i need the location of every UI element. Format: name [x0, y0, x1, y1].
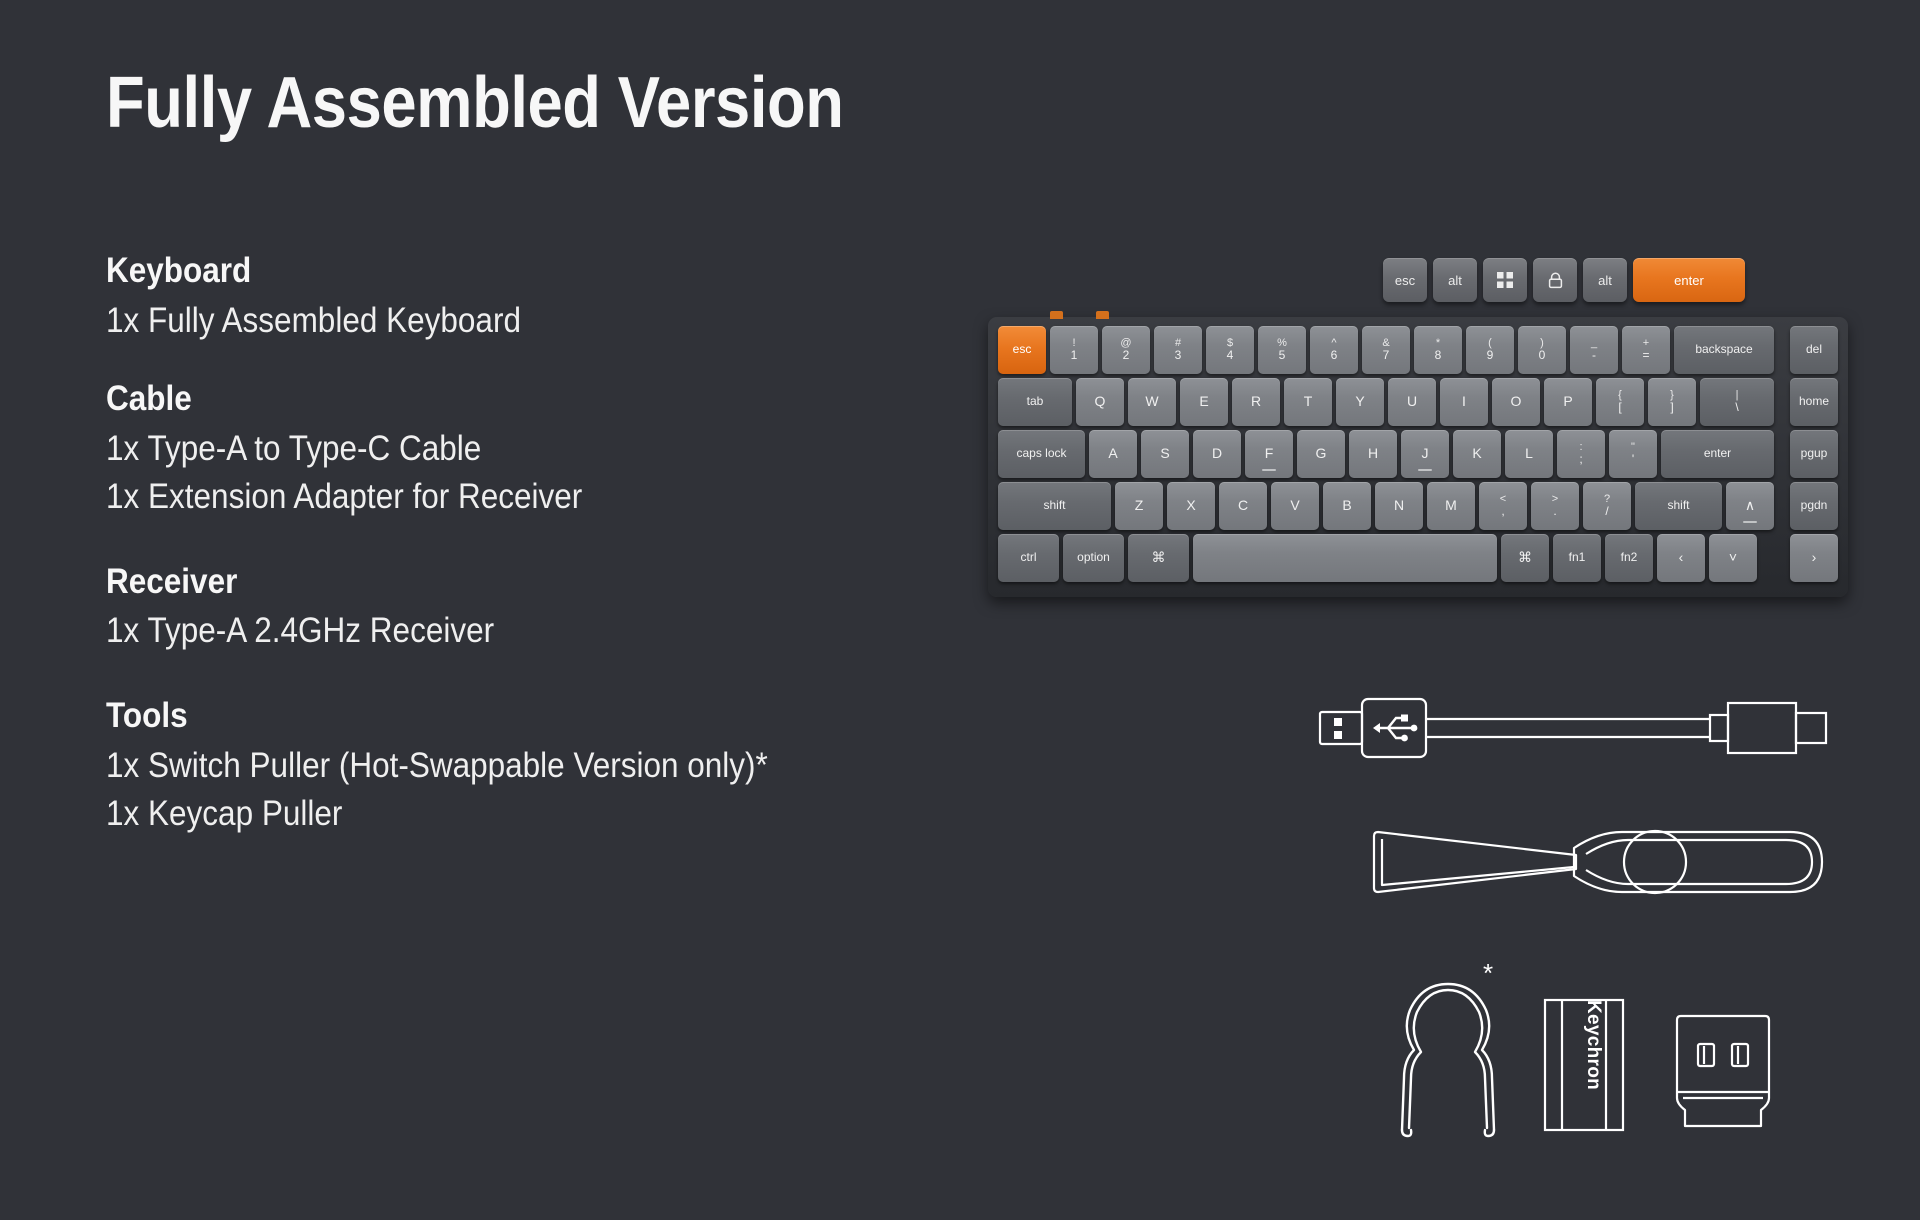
key-legend: X [1186, 498, 1195, 514]
key-legend-top: & [1382, 337, 1389, 349]
key-pgup: pgup [1790, 430, 1838, 478]
extra-keycap-label: alt [1598, 273, 1612, 288]
key-blank: |\ [1700, 378, 1774, 426]
key-legend: tab [1027, 395, 1044, 408]
key-legend: R [1251, 394, 1261, 410]
extra-keycap-label: alt [1448, 273, 1462, 288]
extra-keycap-label: enter [1674, 273, 1704, 288]
key-9: (9 [1466, 326, 1514, 374]
key-e: E [1180, 378, 1228, 426]
windows-icon [1497, 272, 1513, 288]
key-n: N [1375, 482, 1423, 530]
key-v: V [1271, 482, 1319, 530]
key-fn2: fn2 [1605, 534, 1653, 582]
page-title: Fully Assembled Version [106, 62, 844, 144]
key-legend: , [1501, 505, 1504, 518]
key-home: home [1790, 378, 1838, 426]
footnote-asterisk: * [1483, 960, 1493, 986]
key-legend: esc [1013, 343, 1032, 356]
key-q: Q [1076, 378, 1124, 426]
extra-keycap-enter: enter [1633, 258, 1745, 302]
section-heading: Tools [106, 693, 1051, 740]
key-legend: home [1799, 395, 1829, 408]
key-legend: Y [1355, 394, 1364, 410]
key-blank: >. [1531, 482, 1579, 530]
extra-keycap-label: esc [1395, 273, 1415, 288]
key-t: T [1284, 378, 1332, 426]
key-blank: ⌘ [1128, 534, 1189, 582]
keyboard-number-row: esc!1@2#3$4%5^6&7*8(9)0_-+=backspacedel [998, 326, 1838, 374]
extra-keycap-lock [1533, 258, 1577, 302]
section-line: 1x Switch Puller (Hot-Swappable Version … [106, 742, 1051, 790]
key-fn1: fn1 [1553, 534, 1601, 582]
key-legend-top: ( [1488, 337, 1492, 349]
key-blank: ˅ [1709, 534, 1757, 582]
key-shift: shift [998, 482, 1111, 530]
key-blank: <, [1479, 482, 1527, 530]
key-8: *8 [1414, 326, 1462, 374]
keyboard-tab-row: tabQWERTYUIOP{[}]|\home [998, 378, 1838, 426]
key-legend: B [1342, 498, 1351, 514]
key-esc: esc [998, 326, 1046, 374]
extra-keycap-esc: esc [1383, 258, 1427, 302]
key-legend: caps lock [1016, 447, 1066, 460]
key-o: O [1492, 378, 1540, 426]
key-legend-top: ? [1604, 493, 1610, 505]
key-legend: P [1563, 394, 1572, 410]
key-legend: H [1368, 446, 1378, 462]
key-4: $4 [1206, 326, 1254, 374]
key-legend: ‹ [1679, 550, 1684, 566]
key-legend: ⌘ [1152, 550, 1166, 566]
key-legend: ] [1670, 401, 1673, 414]
key-legend: pgup [1801, 447, 1828, 460]
key-z: Z [1115, 482, 1163, 530]
key-p: P [1544, 378, 1592, 426]
key-legend-top: * [1436, 337, 1440, 349]
key-blank: _- [1570, 326, 1618, 374]
key-shift: shift [1635, 482, 1722, 530]
key-legend: K [1472, 446, 1481, 462]
key-blank: {[ [1596, 378, 1644, 426]
keyboard-accent-tab [1050, 311, 1063, 319]
key-pgdn: pgdn [1790, 482, 1838, 530]
key-legend: E [1199, 394, 1208, 410]
key-caps-lock: caps lock [998, 430, 1085, 478]
key-legend: . [1553, 505, 1556, 518]
key-legend-top: { [1618, 389, 1622, 401]
key-legend: ; [1579, 453, 1582, 466]
key-legend-top: : [1579, 441, 1582, 453]
switch-puller-brand-label: Keychron [1582, 1000, 1604, 1090]
key-legend: Z [1135, 498, 1144, 514]
key-k: K [1453, 430, 1501, 478]
key-legend-top: + [1643, 337, 1649, 349]
key-legend-top: | [1736, 389, 1739, 401]
section-line: 1x Keycap Puller [106, 790, 1051, 838]
key-u: U [1388, 378, 1436, 426]
key-legend-top: % [1277, 337, 1287, 349]
key-ctrl: ctrl [998, 534, 1059, 582]
key-enter: enter [1661, 430, 1774, 478]
key-3: #3 [1154, 326, 1202, 374]
key-f: F [1245, 430, 1293, 478]
key-legend-top: < [1500, 493, 1506, 505]
key-1: !1 [1050, 326, 1098, 374]
key-legend: ˅ [1729, 550, 1737, 566]
key-legend: \ [1735, 401, 1738, 414]
key-legend: G [1316, 446, 1327, 462]
key-2: @2 [1102, 326, 1150, 374]
key-legend: I [1462, 394, 1466, 410]
lock-icon [1548, 272, 1563, 289]
key-legend-top: @ [1120, 337, 1131, 349]
key-blank: ‹ [1657, 534, 1705, 582]
key-tab: tab [998, 378, 1072, 426]
key-legend: C [1238, 498, 1248, 514]
key-y: Y [1336, 378, 1384, 426]
key-a: A [1089, 430, 1137, 478]
key-legend: 1 [1071, 349, 1078, 362]
key-b: B [1323, 482, 1371, 530]
key-legend: › [1812, 550, 1817, 566]
key-legend: N [1394, 498, 1404, 514]
key-legend: F [1265, 446, 1274, 462]
section-line: 1x Extension Adapter for Receiver [106, 473, 1051, 521]
key-legend: V [1290, 498, 1299, 514]
key-legend: 9 [1487, 349, 1494, 362]
key-s: S [1141, 430, 1189, 478]
key-legend: shift [1043, 499, 1065, 512]
key-legend: 7 [1383, 349, 1390, 362]
keyboard-bottom-row: ctrloption⌘⌘fn1fn2‹˅› [998, 534, 1838, 582]
keycap-puller-screwdriver-icon [1370, 812, 1830, 912]
key-legend: backspace [1695, 343, 1752, 356]
key-legend: ' [1632, 453, 1634, 466]
key-legend: fn1 [1569, 551, 1586, 564]
key-legend-top: _ [1591, 337, 1597, 349]
extra-keycap-windows [1483, 258, 1527, 302]
key-legend-top: ) [1540, 337, 1544, 349]
key-legend: U [1407, 394, 1417, 410]
key-legend: ∧ [1745, 498, 1755, 514]
section-line: 1x Type-A to Type-C Cable [106, 425, 1051, 473]
key-legend: shift [1667, 499, 1689, 512]
keyboard-rows: esc!1@2#3$4%5^6&7*8(9)0_-+=backspacedelt… [998, 326, 1838, 582]
key-0: )0 [1518, 326, 1566, 374]
key-del: del [1790, 326, 1838, 374]
key-blank: += [1622, 326, 1670, 374]
key-backspace: backspace [1674, 326, 1774, 374]
key-legend-top: > [1552, 493, 1558, 505]
key-legend: ctrl [1021, 551, 1037, 564]
key-blank: ⌘ [1501, 534, 1549, 582]
key-legend: enter [1704, 447, 1731, 460]
key-legend: del [1806, 343, 1822, 356]
key-legend: = [1642, 349, 1649, 362]
usb-receiver-dongle-icon [1677, 1016, 1769, 1126]
key-legend: L [1525, 446, 1533, 462]
key-blank: :; [1557, 430, 1605, 478]
key-legend-top: ^ [1331, 337, 1336, 349]
key-legend: option [1077, 551, 1110, 564]
key-h: H [1349, 430, 1397, 478]
key-legend: A [1108, 446, 1117, 462]
key-legend: D [1212, 446, 1222, 462]
key-blank: "' [1609, 430, 1657, 478]
key-legend: [ [1618, 401, 1621, 414]
section-heading: Receiver [106, 559, 1051, 606]
key-blank: ?/ [1583, 482, 1631, 530]
key-c: C [1219, 482, 1267, 530]
key-legend: M [1445, 498, 1457, 514]
key-legend: fn2 [1621, 551, 1638, 564]
keyboard-illustration: esc!1@2#3$4%5^6&7*8(9)0_-+=backspacedelt… [988, 317, 1848, 597]
key-legend: S [1160, 446, 1169, 462]
key-legend-top: " [1631, 441, 1635, 453]
key-legend: 8 [1435, 349, 1442, 362]
key-legend-top: $ [1227, 337, 1233, 349]
key-blank [1193, 534, 1497, 582]
extra-keycaps-row: esc alt alt enter [1383, 258, 1745, 302]
key-6: ^6 [1310, 326, 1358, 374]
key-g: G [1297, 430, 1345, 478]
key-r: R [1232, 378, 1280, 426]
section-heading: Keyboard [106, 248, 1051, 295]
section-tools: Tools 1x Switch Puller (Hot-Swappable Ve… [106, 693, 1156, 837]
section-line: 1x Type-A 2.4GHz Receiver [106, 607, 1051, 655]
key-legend: pgdn [1801, 499, 1828, 512]
keycap-puller-wire-icon [1402, 984, 1494, 1136]
key-legend: - [1592, 349, 1596, 362]
key-legend: 6 [1331, 349, 1338, 362]
key-i: I [1440, 378, 1488, 426]
key-legend: Q [1095, 394, 1106, 410]
key-legend: O [1511, 394, 1522, 410]
key-l: L [1505, 430, 1553, 478]
key-legend: 0 [1539, 349, 1546, 362]
key-legend: 2 [1123, 349, 1130, 362]
key-legend-top: ! [1072, 337, 1075, 349]
key-w: W [1128, 378, 1176, 426]
key-blank: › [1790, 534, 1838, 582]
keyboard-shift-row: shiftZXCVBNM<,>.?/shift∧pgdn [998, 482, 1838, 530]
keyboard-caps-row: caps lockASDFGHJKL:;"'enterpgup [998, 430, 1838, 478]
key-blank: }] [1648, 378, 1696, 426]
key-5: %5 [1258, 326, 1306, 374]
keyboard-accent-tab [1096, 311, 1109, 319]
key-option: option [1063, 534, 1124, 582]
extra-keycap-alt-right: alt [1583, 258, 1627, 302]
key-legend: ⌘ [1518, 550, 1532, 566]
section-heading: Cable [106, 376, 1051, 423]
key-legend: 5 [1279, 349, 1286, 362]
key-j: J [1401, 430, 1449, 478]
key-legend: 4 [1227, 349, 1234, 362]
key-legend: / [1605, 505, 1608, 518]
key-d: D [1193, 430, 1241, 478]
key-legend: T [1304, 394, 1313, 410]
key-legend-top: # [1175, 337, 1181, 349]
key-legend-top: } [1670, 389, 1674, 401]
key-legend: 3 [1175, 349, 1182, 362]
usb-a-to-usb-c-cable-icon [1318, 693, 1828, 763]
extra-keycap-alt-left: alt [1433, 258, 1477, 302]
key-x: X [1167, 482, 1215, 530]
key-m: M [1427, 482, 1475, 530]
key-7: &7 [1362, 326, 1410, 374]
key-blank: ∧ [1726, 482, 1774, 530]
key-legend: J [1422, 446, 1429, 462]
section-line: 1x Fully Assembled Keyboard [106, 297, 1051, 345]
key-legend: W [1145, 394, 1158, 410]
